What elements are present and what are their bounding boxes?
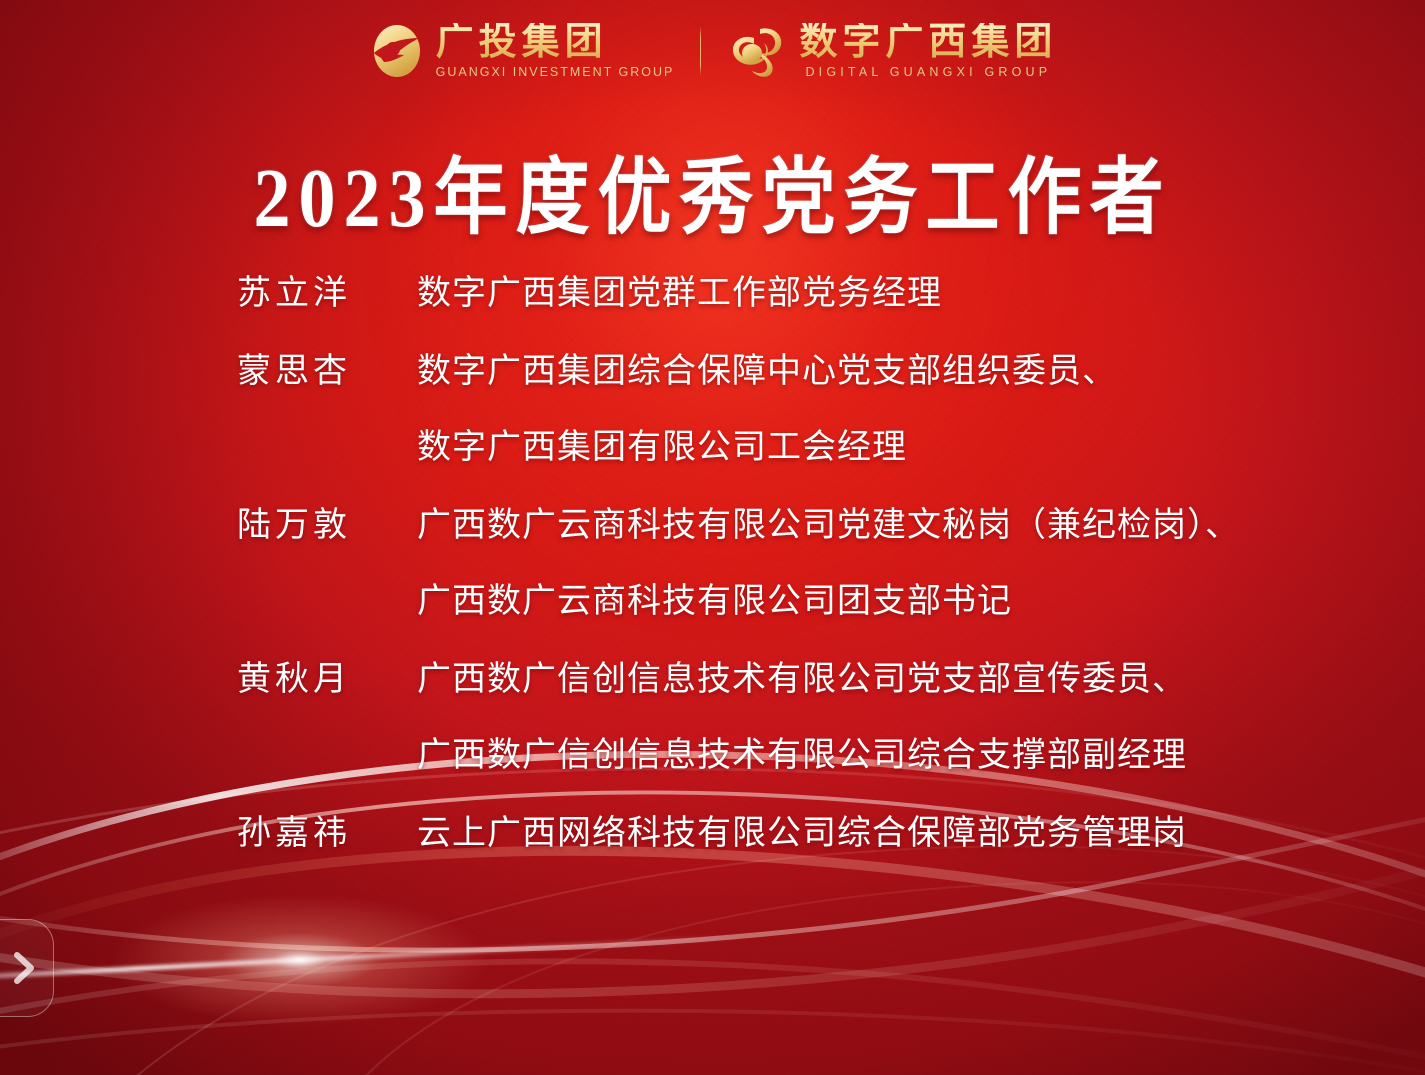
honoree-roles: 数字广西集团综合保障中心党支部组织委员、 数字广西集团有限公司工会经理 bbox=[417, 334, 1365, 486]
role-line: 数字广西集团综合保障中心党支部组织委员、 bbox=[417, 334, 1365, 410]
logo-text-block: 广投集团 GUANGXI INVESTMENT GROUP bbox=[436, 23, 675, 80]
role-line: 广西数广云商科技有限公司团支部书记 bbox=[417, 564, 1365, 640]
role-line: 广西数广信创信息技术有限公司综合支撑部副经理 bbox=[417, 718, 1365, 794]
logo-en-name: GUANGXI INVESTMENT GROUP bbox=[436, 65, 675, 79]
list-item: 蒙思杏 数字广西集团综合保障中心党支部组织委员、 数字广西集团有限公司工会经理 bbox=[237, 334, 1365, 486]
honoree-roles: 云上广西网络科技有限公司综合保障部党务管理岗 bbox=[417, 796, 1365, 872]
presentation-slide: 广投集团 GUANGXI INVESTMENT GROUP bbox=[0, 0, 1425, 1075]
logo-divider bbox=[700, 26, 701, 76]
honoree-list: 苏立洋 数字广西集团党群工作部党务经理 蒙思杏 数字广西集团综合保障中心党支部组… bbox=[237, 256, 1365, 874]
logo-cn-name: 广投集团 bbox=[436, 23, 675, 62]
honoree-name: 黄秋月 bbox=[237, 642, 417, 718]
logo-guangxi-investment-group: 广投集团 GUANGXI INVESTMENT GROUP bbox=[368, 22, 675, 80]
role-line: 数字广西集团有限公司工会经理 bbox=[417, 410, 1365, 486]
honoree-name: 苏立洋 bbox=[237, 256, 417, 332]
honoree-roles: 广西数广云商科技有限公司党建文秘岗（兼纪检岗）、 广西数广云商科技有限公司团支部… bbox=[417, 488, 1365, 640]
logo-text-block: 数字广西集团 DIGITAL GUANGXI GROUP bbox=[799, 23, 1057, 80]
honoree-name: 陆万敦 bbox=[237, 488, 417, 564]
list-item: 黄秋月 广西数广信创信息技术有限公司党支部宣传委员、 广西数广信创信息技术有限公… bbox=[237, 642, 1365, 794]
next-slide-button[interactable] bbox=[0, 919, 54, 1017]
digital-guangxi-group-mark bbox=[727, 22, 789, 80]
honoree-roles: 数字广西集团党群工作部党务经理 bbox=[417, 256, 1365, 332]
slide-title: 2023年度优秀党务工作者 bbox=[0, 130, 1425, 251]
role-line: 云上广西网络科技有限公司综合保障部党务管理岗 bbox=[417, 796, 1365, 872]
honoree-name: 孙嘉祎 bbox=[237, 796, 417, 872]
logo-digital-guangxi-group: 数字广西集团 DIGITAL GUANGXI GROUP bbox=[727, 22, 1057, 80]
logo-en-name: DIGITAL GUANGXI GROUP bbox=[799, 65, 1057, 79]
list-item: 孙嘉祎 云上广西网络科技有限公司综合保障部党务管理岗 bbox=[237, 796, 1365, 872]
guangxi-investment-group-mark bbox=[368, 22, 426, 80]
logo-cn-name: 数字广西集团 bbox=[799, 23, 1057, 62]
chevron-right-icon bbox=[12, 951, 38, 985]
role-line: 数字广西集团党群工作部党务经理 bbox=[417, 256, 1365, 332]
honoree-roles: 广西数广信创信息技术有限公司党支部宣传委员、 广西数广信创信息技术有限公司综合支… bbox=[417, 642, 1365, 794]
honoree-name: 蒙思杏 bbox=[237, 334, 417, 410]
list-item: 苏立洋 数字广西集团党群工作部党务经理 bbox=[237, 256, 1365, 332]
role-line: 广西数广云商科技有限公司党建文秘岗（兼纪检岗）、 bbox=[417, 488, 1365, 564]
role-line: 广西数广信创信息技术有限公司党支部宣传委员、 bbox=[417, 642, 1365, 718]
list-item: 陆万敦 广西数广云商科技有限公司党建文秘岗（兼纪检岗）、 广西数广云商科技有限公… bbox=[237, 488, 1365, 640]
header-logo-bar: 广投集团 GUANGXI INVESTMENT GROUP bbox=[0, 22, 1425, 80]
